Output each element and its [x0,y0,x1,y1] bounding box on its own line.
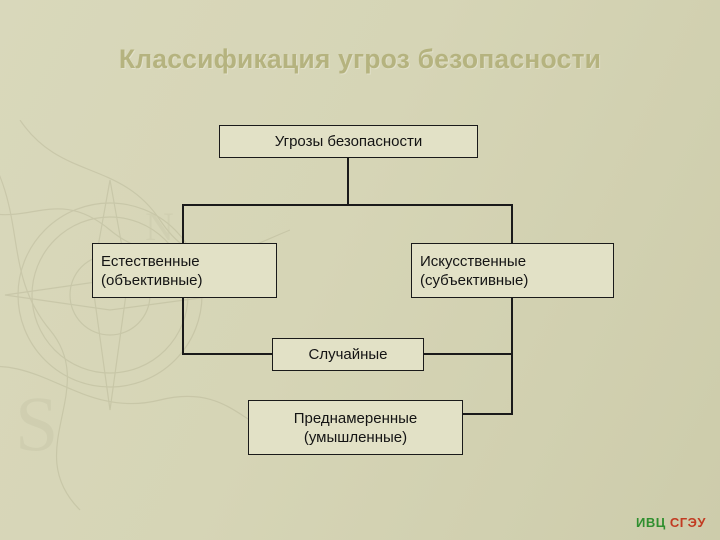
edge-root-bus [182,204,513,206]
page-title: Классификация угроз безопасности [0,44,720,75]
edge-artificial-down [511,298,513,354]
svg-text:S: S [15,380,58,467]
footer-sgeu-label: СГЭУ [670,515,706,530]
node-root[interactable]: Угрозы безопасности [219,125,478,158]
edge-to-natural [182,204,184,243]
edge-to-artificial [511,204,513,243]
node-deliberate[interactable]: Преднамеренные (умышленные) [248,400,463,455]
node-natural[interactable]: Естественные (объективные) [92,243,277,298]
edge-natural-to-random [182,353,274,355]
node-deliberate-label: Преднамеренные (умышленные) [294,409,418,447]
slide: S N Классификация угроз безопасности Угр… [0,0,720,540]
footer-ivc-label: ИВЦ [636,515,666,530]
node-artificial[interactable]: Искусственные (субъективные) [411,243,614,298]
compass-watermark: S N [0,120,290,520]
edge-to-deliberate [461,413,513,415]
node-random[interactable]: Случайные [272,338,424,371]
edge-artificial-to-random [422,353,513,355]
node-root-label: Угрозы безопасности [275,132,423,151]
node-artificial-label: Искусственные (субъективные) [420,252,528,290]
edge-natural-down [182,298,184,354]
node-random-label: Случайные [308,345,387,364]
node-natural-label: Естественные (объективные) [101,252,203,290]
edge-artificial-down-2 [511,353,513,415]
edge-root-stub [347,158,349,206]
footer-logo: ИВЦ СГЭУ [636,515,706,530]
